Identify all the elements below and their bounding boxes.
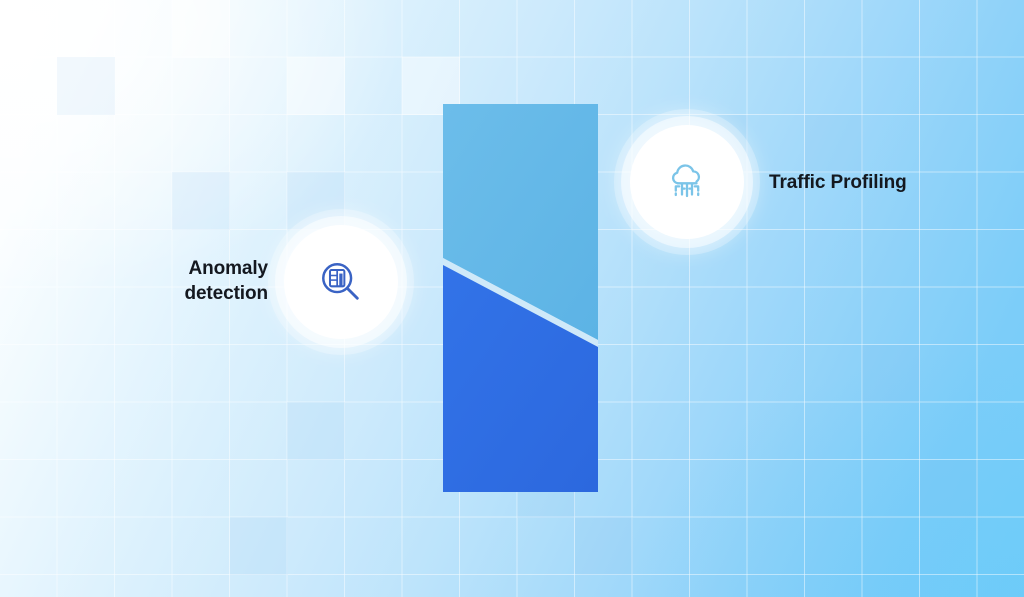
background-tile [287, 172, 345, 230]
background-tile [805, 115, 863, 173]
background-tile [172, 0, 230, 58]
background-tile [920, 460, 978, 518]
background-tile [57, 57, 115, 115]
stacked-bar-chart [443, 104, 598, 492]
cloud-circuit-icon [663, 158, 711, 206]
background-tile [575, 517, 633, 575]
background-tile [172, 172, 230, 230]
magnifier-bar-chart-icon [318, 259, 364, 305]
infographic-canvas: Anomaly detection Traffic Profiling [0, 0, 1024, 597]
background-tile [862, 345, 920, 403]
background-tile [287, 57, 345, 115]
background-tile [230, 517, 288, 575]
background-tile [287, 402, 345, 460]
background-tile [0, 0, 58, 58]
callout-badge-traffic-profiling[interactable] [630, 125, 744, 239]
callout-label-traffic-profiling: Traffic Profiling [769, 170, 999, 195]
callout-label-anomaly-detection: Anomaly detection [118, 256, 268, 306]
callout-badge-anomaly-detection[interactable] [284, 225, 398, 339]
